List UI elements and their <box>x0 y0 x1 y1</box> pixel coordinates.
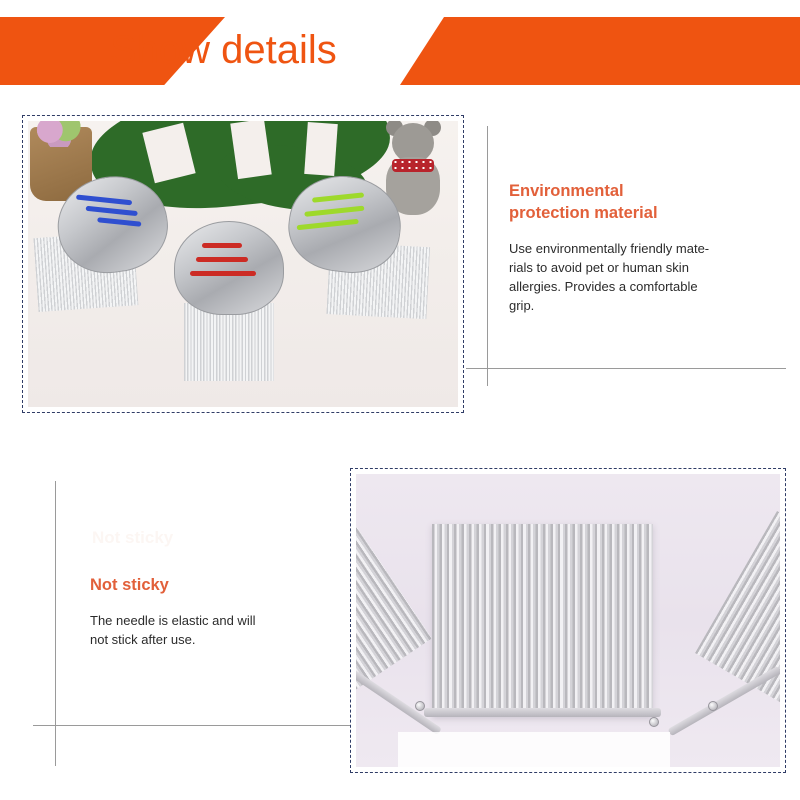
blue-comb <box>28 166 198 317</box>
center-comb-teeth-macro <box>432 524 652 717</box>
comb-teeth-closeup-photo <box>356 474 780 767</box>
connector-line-horizontal-bottom <box>33 725 353 726</box>
flower <box>36 121 82 147</box>
page-title: Show details <box>110 17 337 85</box>
callout-body: Use environmentally friendly mate- rials… <box>509 239 754 316</box>
three-combs-photo-frame <box>22 115 464 413</box>
connector-line-vertical-top <box>487 126 488 386</box>
bear-bow <box>392 159 434 172</box>
callout-body: The needle is elastic and will not stick… <box>90 611 330 649</box>
callout-heading: Environmental protection material <box>509 181 754 225</box>
comb-teeth-closeup-photo-frame <box>350 468 786 773</box>
red-comb-stripe <box>196 257 248 262</box>
header-banner: Show details <box>0 17 800 85</box>
red-comb-stripe <box>202 243 242 248</box>
product-detail-page: Show details <box>0 0 800 800</box>
ghost-watermark-text: Not sticky <box>92 527 322 549</box>
callout-environmental-protection-material: Environmental protection material Use en… <box>509 181 754 315</box>
table-surface-highlight <box>398 732 669 767</box>
left-comb-teeth-macro <box>356 512 432 702</box>
center-comb-spine <box>424 708 661 717</box>
right-comb-teeth-macro <box>695 511 780 717</box>
callout-heading: Not sticky <box>90 575 330 597</box>
connector-line-vertical-bottom <box>55 481 56 766</box>
comb-rivet <box>708 701 718 711</box>
callout-not-sticky: Not sticky The needle is elastic and wil… <box>90 575 330 649</box>
banner-right-shape <box>400 17 800 85</box>
right-comb-spine <box>668 665 780 736</box>
red-comb-head <box>174 221 284 315</box>
red-comb-stripe <box>190 271 256 276</box>
green-comb <box>274 169 458 329</box>
three-combs-photo <box>28 121 458 407</box>
connector-line-horizontal-top <box>466 368 786 369</box>
leaf-notch <box>304 122 338 176</box>
comb-rivet <box>649 717 659 727</box>
leaf-notch <box>230 121 271 179</box>
